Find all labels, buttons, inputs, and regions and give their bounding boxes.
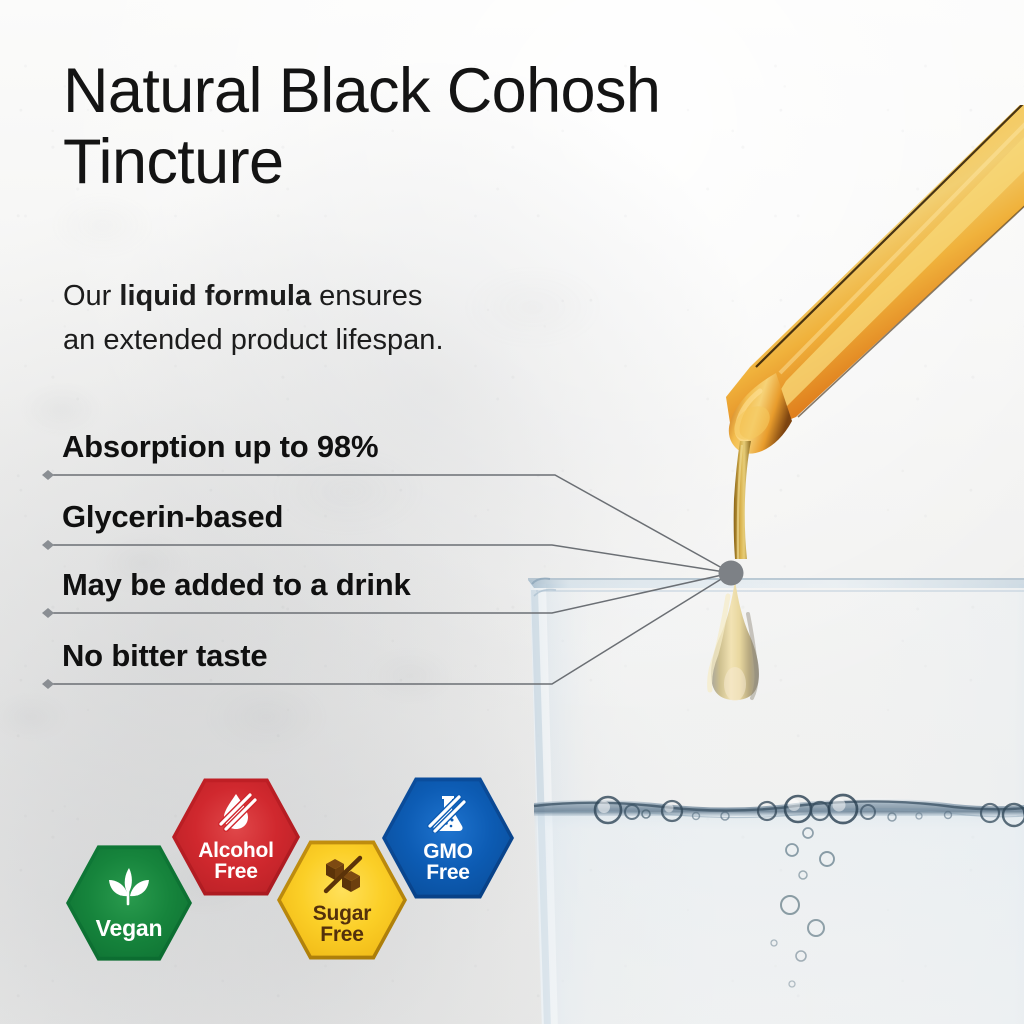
badge-label-gmo-free: GMO Free (423, 841, 473, 884)
sugar-cubes-crossed-icon (318, 855, 366, 900)
badge-gmo-free[interactable]: GMO Free (382, 775, 514, 901)
flask-crossed-icon (425, 793, 471, 838)
leaf-icon (106, 866, 152, 913)
droplet-crossed-icon (214, 792, 258, 837)
product-infographic: Absorption up to 98% Glycerin-based May … (0, 0, 1024, 1024)
badge-label-vegan: Vegan (96, 917, 163, 940)
certification-badges: Vegan Alcohol (0, 0, 1024, 1024)
badge-label-alcohol-free: Alcohol Free (198, 840, 274, 883)
badge-label-sugar-free: Sugar Free (313, 903, 372, 946)
